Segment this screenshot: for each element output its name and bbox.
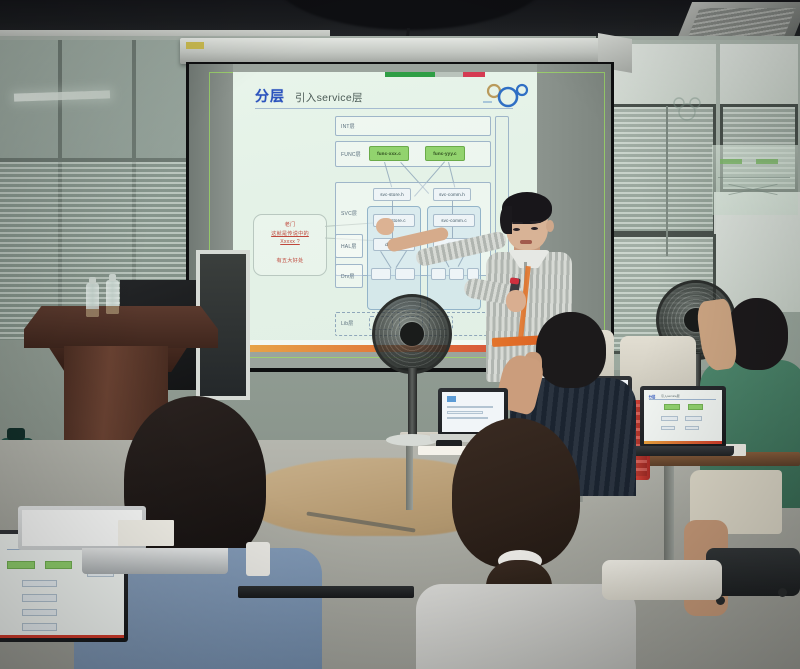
presenter-sideburn [500, 206, 512, 234]
node-drv-3 [431, 268, 446, 280]
callout-line-1: 老门 [285, 221, 296, 228]
laptop-screen-right: 分层 引入service层 [644, 390, 722, 444]
slide-reflection [712, 145, 798, 215]
laptop-slide-subtitle: 引入service层 [661, 394, 680, 398]
slide-subtitle: 引入service层 [295, 90, 363, 105]
projector-screen-housing [180, 38, 620, 64]
decal-icon [672, 96, 702, 122]
desk-leg [406, 442, 413, 510]
node-drv-2 [395, 268, 415, 280]
student-head [536, 312, 606, 388]
gear-rings-icon [483, 80, 531, 110]
presenter-ear [546, 220, 554, 232]
student-head [452, 418, 580, 568]
chair-front-mid [602, 560, 722, 600]
laptop-keyboard [82, 548, 228, 574]
layer-label-svc: SVC层 [341, 210, 357, 217]
callout-line-4: 有五大好处 [277, 257, 304, 264]
callout-line-3: Xxxxx ? [280, 239, 300, 245]
node-svc-store-h: svc-store.h [373, 188, 411, 201]
housing-label [186, 42, 204, 49]
papers [118, 520, 174, 546]
presenter-pointing-hand [376, 218, 394, 235]
node-func-xxx: func-xxx.c [369, 146, 409, 161]
slide-title-rule [255, 108, 513, 109]
slide-topbar-red [463, 72, 485, 77]
callout-line-2: 这就是传说中的 [271, 230, 309, 237]
layer-int [335, 116, 491, 136]
slide-topbar-green [385, 72, 435, 77]
desk-front [238, 586, 414, 598]
layer-label-hal: HAL层 [341, 243, 357, 250]
water-bottle-desk [246, 542, 270, 576]
node-func-yyy: func-yyy.c [425, 146, 465, 161]
presenter-brow-right [530, 221, 541, 223]
layer-label-drv: Drv层 [341, 273, 355, 280]
layer-label-int: INT层 [341, 123, 355, 130]
slide-title: 分层 [255, 86, 285, 106]
node-drv-1 [371, 268, 391, 280]
laptop-slide-title: 分层 [649, 394, 656, 399]
classroom-scene: 分层 引入service层 老门 这就是传说中的 Xxxxx ? 有五大好处 I… [0, 0, 800, 669]
presenter-eye-left [513, 228, 520, 231]
layer-label-func: FUNC层 [341, 151, 361, 158]
layer-label-lib: Lib层 [341, 320, 353, 327]
presenter-brow-left [512, 222, 523, 224]
water-bottle-1 [86, 283, 99, 317]
water-bottle-2 [106, 280, 119, 314]
slide-topbar-gray [435, 72, 463, 77]
presenter-holding-hand [506, 290, 526, 312]
slide-callout-bubble: 老门 这就是传说中的 Xxxxx ? 有五大好处 [253, 214, 327, 276]
chair-caster [778, 588, 787, 597]
presenter-mouth [520, 240, 532, 244]
presenter-remote-led [510, 277, 520, 284]
presenter-eye-right [531, 227, 538, 230]
